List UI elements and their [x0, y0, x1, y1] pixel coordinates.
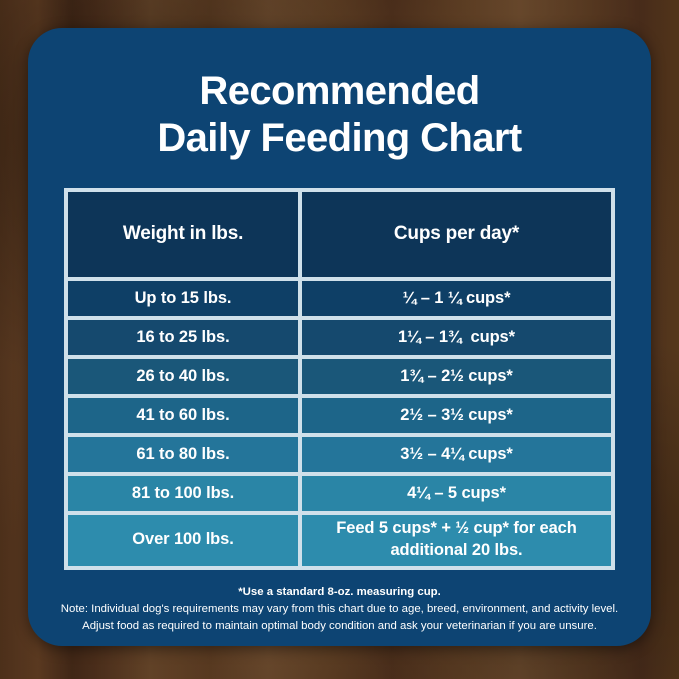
cell-cups: 1¾ – 2½ cups* — [300, 357, 613, 396]
footnotes: *Use a standard 8-oz. measuring cup. Not… — [50, 584, 630, 635]
page-title-line-1: Recommended — [60, 68, 620, 115]
table-header-row: Weight in lbs. Cups per day* — [66, 190, 613, 279]
cell-weight: 16 to 25 lbs. — [66, 318, 300, 357]
table-row: Up to 15 lbs. ¼ – 1 ¼ cups* — [66, 279, 613, 318]
table-row: 26 to 40 lbs. 1¾ – 2½ cups* — [66, 357, 613, 396]
cell-cups: 4¼ – 5 cups* — [300, 474, 613, 513]
cell-cups: Feed 5 cups* + ½ cup* for each additiona… — [300, 513, 613, 568]
cell-weight: Over 100 lbs. — [66, 513, 300, 568]
cell-weight: 41 to 60 lbs. — [66, 396, 300, 435]
page-title: Recommended Daily Feeding Chart — [60, 68, 620, 162]
table-header: Weight in lbs. Cups per day* — [66, 190, 613, 279]
table-body: Up to 15 lbs. ¼ – 1 ¼ cups* 16 to 25 lbs… — [66, 279, 613, 568]
cell-weight: 61 to 80 lbs. — [66, 435, 300, 474]
cell-cups: 1¼ – 1¾ cups* — [300, 318, 613, 357]
column-header-weight: Weight in lbs. — [66, 190, 300, 279]
footnote-measuring-cup: *Use a standard 8-oz. measuring cup. — [50, 584, 630, 601]
cell-weight: 26 to 40 lbs. — [66, 357, 300, 396]
footnote-adjust: Adjust food as required to maintain opti… — [50, 618, 630, 635]
feeding-chart-table: Weight in lbs. Cups per day* Up to 15 lb… — [64, 188, 615, 570]
table-row: 16 to 25 lbs. 1¼ – 1¾ cups* — [66, 318, 613, 357]
table-row: 61 to 80 lbs. 3½ – 4¼ cups* — [66, 435, 613, 474]
cell-weight: 81 to 100 lbs. — [66, 474, 300, 513]
cell-cups: 3½ – 4¼ cups* — [300, 435, 613, 474]
cell-weight: Up to 15 lbs. — [66, 279, 300, 318]
footnote-variation: Note: Individual dog's requirements may … — [50, 601, 630, 618]
cell-cups: ¼ – 1 ¼ cups* — [300, 279, 613, 318]
cell-cups: 2½ – 3½ cups* — [300, 396, 613, 435]
table-row: 81 to 100 lbs. 4¼ – 5 cups* — [66, 474, 613, 513]
feeding-chart-card: Recommended Daily Feeding Chart Weight i… — [28, 28, 651, 646]
page-title-line-2: Daily Feeding Chart — [60, 115, 620, 162]
column-header-cups: Cups per day* — [300, 190, 613, 279]
table-row: Over 100 lbs. Feed 5 cups* + ½ cup* for … — [66, 513, 613, 568]
table-row: 41 to 60 lbs. 2½ – 3½ cups* — [66, 396, 613, 435]
